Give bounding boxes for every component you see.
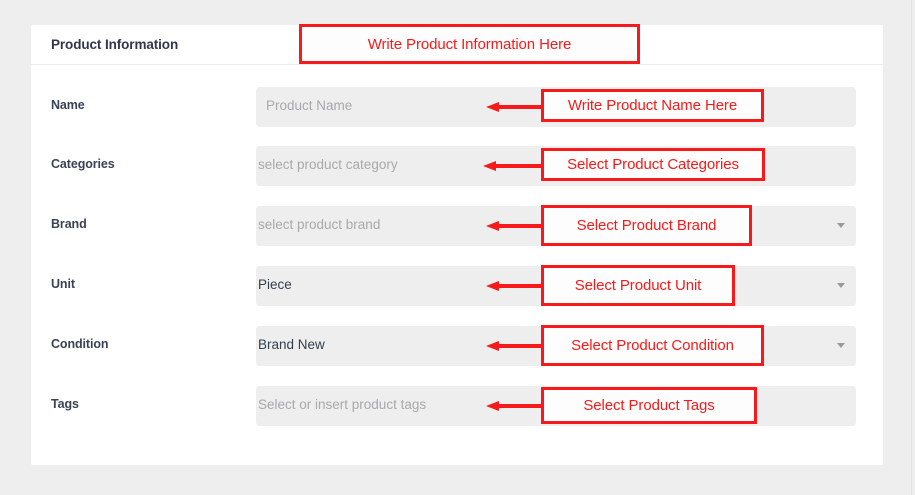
annotation-arrow-tags (486, 401, 544, 411)
annotation-label: Select Product Brand (568, 218, 726, 233)
form-row-brand: Brand select product brand (31, 206, 883, 246)
field-label-unit: Unit (51, 277, 75, 291)
annotation-label: Select Product Categories (558, 157, 748, 172)
product-unit-value: Piece (258, 277, 292, 292)
field-label-tags: Tags (51, 397, 79, 411)
annotation-arrow-brand (486, 221, 544, 231)
field-label-categories: Categories (51, 157, 115, 171)
form-row-unit: Unit Piece (31, 266, 883, 306)
annotation-label: Write Product Name Here (559, 98, 746, 113)
annotation-select-product-condition: Select Product Condition (541, 325, 764, 366)
product-brand-placeholder: select product brand (258, 217, 380, 232)
annotation-arrow-condition (486, 341, 544, 351)
annotation-select-product-unit: Select Product Unit (541, 265, 735, 306)
product-condition-value: Brand New (258, 337, 325, 352)
page-title: Product Information (51, 37, 178, 52)
field-label-brand: Brand (51, 217, 87, 231)
annotation-select-product-brand: Select Product Brand (541, 205, 752, 246)
chevron-down-icon[interactable] (837, 223, 845, 228)
annotation-arrow-name (486, 102, 544, 112)
annotation-label: Select Product Condition (562, 338, 743, 353)
annotation-select-product-categories: Select Product Categories (541, 148, 765, 181)
product-tags-placeholder: Select or insert product tags (258, 397, 426, 412)
annotation-select-product-tags: Select Product Tags (541, 387, 757, 424)
chevron-down-icon[interactable] (837, 343, 845, 348)
annotation-label: Select Product Tags (574, 398, 723, 413)
product-name-placeholder: Product Name (266, 98, 352, 113)
annotation-write-product-name: Write Product Name Here (541, 89, 764, 122)
annotation-arrow-unit (486, 281, 544, 291)
adjacent-panel-edge (911, 0, 915, 495)
annotation-label: Select Product Unit (566, 278, 711, 293)
product-category-placeholder: select product category (258, 157, 398, 172)
annotation-product-information: Write Product Information Here (299, 24, 640, 64)
chevron-down-icon[interactable] (837, 283, 845, 288)
annotation-label: Write Product Information Here (359, 37, 580, 52)
field-label-condition: Condition (51, 337, 108, 351)
field-label-name: Name (51, 98, 85, 112)
annotation-arrow-categories (483, 161, 544, 171)
